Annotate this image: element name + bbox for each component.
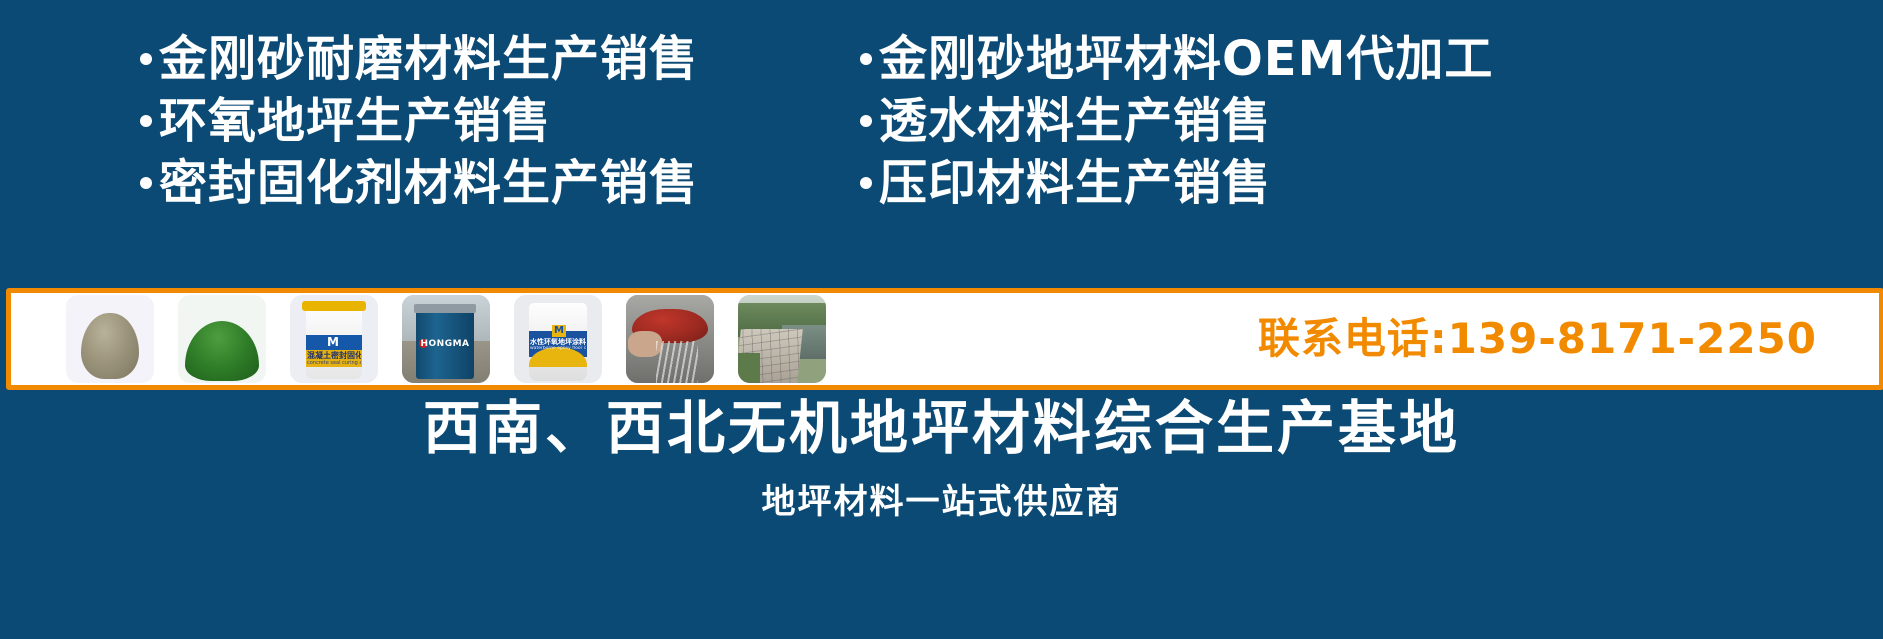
product-thumbnail-blue-steel-drum[interactable]: HONGMA [402, 295, 490, 383]
feature-item: 透水材料生产销售 [860, 90, 1560, 152]
bullet-dot-icon [860, 115, 872, 127]
product-strip: M 混凝土密封固化剂 concrete seal curing agent HO… [6, 288, 1883, 390]
product-thumbnail-stamped-concrete-path[interactable] [738, 295, 826, 383]
feature-label: 金刚砂耐磨材料生产销售 [159, 28, 698, 90]
product-thumbnail-red-permeable-aggregate[interactable] [626, 295, 714, 383]
pail-label-cn: 混凝土密封固化剂 [307, 351, 361, 360]
product-thumbnail-white-yellow-pail-sealer[interactable]: M 混凝土密封固化剂 concrete seal curing agent [290, 295, 378, 383]
subheadline-text: 地坪材料一站式供应商 [0, 476, 1883, 528]
path-photo-grass [738, 353, 760, 383]
pail-lid [302, 301, 366, 311]
headline-text: 西南、西北无机地坪材料综合生产基地 [0, 390, 1883, 466]
pail-label-en: waterborne epoxy floor coating [530, 346, 586, 351]
product-thumbnail-green-abrasive-powder[interactable] [178, 295, 266, 383]
feature-list: 金刚砂耐磨材料生产销售 环氧地坪生产销售 密封固化剂材料生产销售 金刚砂地坪材料… [0, 28, 1883, 228]
brand-mark-letter: M [552, 325, 566, 337]
feature-column-left: 金刚砂耐磨材料生产销售 环氧地坪生产销售 密封固化剂材料生产销售 [140, 28, 840, 228]
pail-label-en: concrete seal curing agent [307, 360, 361, 366]
feature-item: 压印材料生产销售 [860, 152, 1560, 214]
bullet-dot-icon [860, 177, 872, 189]
feature-label: 金刚砂地坪材料OEM代加工 [879, 28, 1493, 90]
bullet-dot-icon [140, 53, 152, 65]
feature-label: 透水材料生产销售 [879, 90, 1271, 152]
feature-item: 金刚砂耐磨材料生产销售 [140, 28, 840, 90]
feature-label: 环氧地坪生产销售 [159, 90, 551, 152]
bottom-headline-block: 西南、西北无机地坪材料综合生产基地 地坪材料一站式供应商 [0, 390, 1883, 528]
drum-brand-text: HONGMA [416, 339, 474, 349]
feature-column-right: 金刚砂地坪材料OEM代加工 透水材料生产销售 压印材料生产销售 [860, 28, 1560, 228]
product-thumbnail-grey-abrasive-powder[interactable] [66, 295, 154, 383]
feature-item: 密封固化剂材料生产销售 [140, 152, 840, 214]
bullet-dot-icon [140, 177, 152, 189]
bullet-dot-icon [860, 53, 872, 65]
brand-mark-letter: M [327, 336, 339, 349]
promo-banner: 金刚砂耐磨材料生产销售 环氧地坪生产销售 密封固化剂材料生产销售 金刚砂地坪材料… [0, 0, 1883, 639]
feature-item: 金刚砂地坪材料OEM代加工 [860, 28, 1560, 90]
feature-label: 密封固化剂材料生产销售 [159, 152, 698, 214]
feature-label: 压印材料生产销售 [879, 152, 1271, 214]
pail-label-cn: 水性环氧地坪涂料 [530, 338, 586, 346]
feature-item: 环氧地坪生产销售 [140, 90, 840, 152]
water-stream [656, 341, 698, 383]
contact-phone[interactable]: 联系电话:139-8171-2250 [1258, 316, 1817, 362]
bullet-dot-icon [140, 115, 152, 127]
product-thumbnail-list: M 混凝土密封固化剂 concrete seal curing agent HO… [66, 295, 826, 383]
product-thumbnail-white-blue-pail-epoxy[interactable]: M 水性环氧地坪涂料 waterborne epoxy floor coatin… [514, 295, 602, 383]
drum-rim [414, 304, 476, 313]
